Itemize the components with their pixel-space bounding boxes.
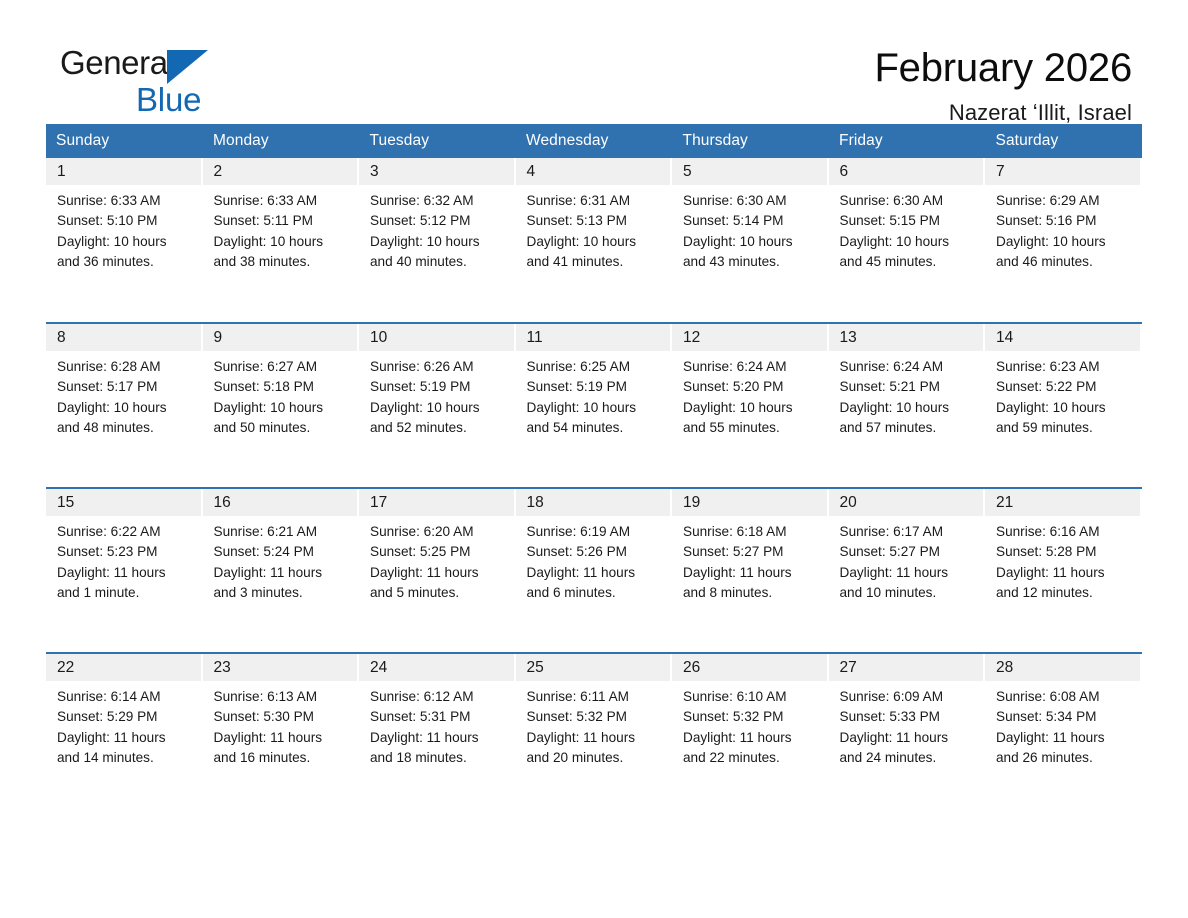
day-number: 9 [203, 324, 358, 351]
daylight-text-line1: Daylight: 10 hours [996, 398, 1134, 418]
day-number: 24 [359, 654, 514, 681]
sunrise-text: Sunrise: 6:23 AM [996, 357, 1134, 377]
daylight-text-line1: Daylight: 11 hours [57, 728, 195, 748]
sunset-text: Sunset: 5:32 PM [683, 707, 821, 727]
sunset-text: Sunset: 5:16 PM [996, 211, 1134, 231]
day-details: Sunrise: 6:21 AMSunset: 5:24 PMDaylight:… [203, 516, 360, 603]
sunrise-text: Sunrise: 6:27 AM [214, 357, 352, 377]
day-number: 15 [46, 489, 201, 516]
daylight-text-line2: and 18 minutes. [370, 748, 508, 768]
day-details: Sunrise: 6:32 AMSunset: 5:12 PMDaylight:… [359, 185, 516, 272]
day-number: 23 [203, 654, 358, 681]
sunrise-text: Sunrise: 6:14 AM [57, 687, 195, 707]
day-number: 20 [829, 489, 984, 516]
daylight-text-line2: and 55 minutes. [683, 418, 821, 438]
day-number: 21 [985, 489, 1140, 516]
daylight-text-line2: and 1 minute. [57, 583, 195, 603]
sunset-text: Sunset: 5:18 PM [214, 377, 352, 397]
page-title: February 2026 [874, 46, 1132, 91]
day-number: 25 [516, 654, 671, 681]
daylight-text-line2: and 8 minutes. [683, 583, 821, 603]
day-cell[interactable]: 6Sunrise: 6:30 AMSunset: 5:15 PMDaylight… [829, 158, 986, 323]
day-number: 10 [359, 324, 514, 351]
day-details: Sunrise: 6:17 AMSunset: 5:27 PMDaylight:… [829, 516, 986, 603]
sunrise-text: Sunrise: 6:20 AM [370, 522, 508, 542]
daylight-text-line1: Daylight: 11 hours [996, 563, 1134, 583]
sunrise-text: Sunrise: 6:16 AM [996, 522, 1134, 542]
day-number: 1 [46, 158, 201, 185]
sunset-text: Sunset: 5:31 PM [370, 707, 508, 727]
day-details: Sunrise: 6:22 AMSunset: 5:23 PMDaylight:… [46, 516, 203, 603]
daylight-text-line1: Daylight: 11 hours [57, 563, 195, 583]
day-cell[interactable]: 5Sunrise: 6:30 AMSunset: 5:14 PMDaylight… [672, 158, 829, 323]
daylight-text-line2: and 50 minutes. [214, 418, 352, 438]
day-cell[interactable]: 11Sunrise: 6:25 AMSunset: 5:19 PMDayligh… [516, 323, 673, 488]
day-details: Sunrise: 6:30 AMSunset: 5:15 PMDaylight:… [829, 185, 986, 272]
daylight-text-line1: Daylight: 10 hours [683, 398, 821, 418]
sunset-text: Sunset: 5:23 PM [57, 542, 195, 562]
sunrise-text: Sunrise: 6:08 AM [996, 687, 1134, 707]
day-cell[interactable]: 3Sunrise: 6:32 AMSunset: 5:12 PMDaylight… [359, 158, 516, 323]
sunset-text: Sunset: 5:26 PM [527, 542, 665, 562]
day-details: Sunrise: 6:14 AMSunset: 5:29 PMDaylight:… [46, 681, 203, 768]
daylight-text-line1: Daylight: 11 hours [527, 563, 665, 583]
daylight-text-line2: and 20 minutes. [527, 748, 665, 768]
sunrise-text: Sunrise: 6:25 AM [527, 357, 665, 377]
daylight-text-line2: and 38 minutes. [214, 252, 352, 272]
sunrise-text: Sunrise: 6:33 AM [57, 191, 195, 211]
daylight-text-line2: and 40 minutes. [370, 252, 508, 272]
day-number: 16 [203, 489, 358, 516]
day-number: 27 [829, 654, 984, 681]
sunrise-text: Sunrise: 6:19 AM [527, 522, 665, 542]
week-row: 8Sunrise: 6:28 AMSunset: 5:17 PMDaylight… [46, 323, 1142, 488]
sunrise-text: Sunrise: 6:09 AM [840, 687, 978, 707]
daylight-text-line2: and 3 minutes. [214, 583, 352, 603]
sunrise-text: Sunrise: 6:24 AM [840, 357, 978, 377]
week-row: 15Sunrise: 6:22 AMSunset: 5:23 PMDayligh… [46, 488, 1142, 653]
day-cell[interactable]: 10Sunrise: 6:26 AMSunset: 5:19 PMDayligh… [359, 323, 516, 488]
day-cell[interactable]: 18Sunrise: 6:19 AMSunset: 5:26 PMDayligh… [516, 488, 673, 653]
day-number: 4 [516, 158, 671, 185]
daylight-text-line1: Daylight: 10 hours [214, 232, 352, 252]
sunset-text: Sunset: 5:21 PM [840, 377, 978, 397]
page-subtitle: Nazerat ʻIllit, Israel [874, 100, 1132, 126]
day-details: Sunrise: 6:33 AMSunset: 5:10 PMDaylight:… [46, 185, 203, 272]
daylight-text-line2: and 14 minutes. [57, 748, 195, 768]
day-cell[interactable]: 19Sunrise: 6:18 AMSunset: 5:27 PMDayligh… [672, 488, 829, 653]
sunset-text: Sunset: 5:24 PM [214, 542, 352, 562]
daylight-text-line2: and 43 minutes. [683, 252, 821, 272]
day-cell[interactable]: 9Sunrise: 6:27 AMSunset: 5:18 PMDaylight… [203, 323, 360, 488]
day-cell[interactable]: 13Sunrise: 6:24 AMSunset: 5:21 PMDayligh… [829, 323, 986, 488]
daylight-text-line2: and 45 minutes. [840, 252, 978, 272]
day-details: Sunrise: 6:27 AMSunset: 5:18 PMDaylight:… [203, 351, 360, 438]
sunset-text: Sunset: 5:14 PM [683, 211, 821, 231]
weekday-header-wednesday: Wednesday [516, 124, 673, 158]
daylight-text-line1: Daylight: 10 hours [214, 398, 352, 418]
day-number: 14 [985, 324, 1140, 351]
day-cell[interactable]: 23Sunrise: 6:13 AMSunset: 5:30 PMDayligh… [203, 653, 360, 818]
daylight-text-line2: and 46 minutes. [996, 252, 1134, 272]
day-number: 5 [672, 158, 827, 185]
weekday-header-row: Sunday Monday Tuesday Wednesday Thursday… [46, 124, 1142, 158]
daylight-text-line1: Daylight: 11 hours [214, 728, 352, 748]
day-number: 13 [829, 324, 984, 351]
sunrise-text: Sunrise: 6:18 AM [683, 522, 821, 542]
daylight-text-line1: Daylight: 10 hours [57, 398, 195, 418]
daylight-text-line1: Daylight: 11 hours [370, 728, 508, 748]
logo-row-top: General [60, 46, 360, 86]
daylight-text-line2: and 16 minutes. [214, 748, 352, 768]
weekday-header-thursday: Thursday [672, 124, 829, 158]
day-cell[interactable]: 8Sunrise: 6:28 AMSunset: 5:17 PMDaylight… [46, 323, 203, 488]
day-details: Sunrise: 6:30 AMSunset: 5:14 PMDaylight:… [672, 185, 829, 272]
daylight-text-line2: and 5 minutes. [370, 583, 508, 603]
day-details: Sunrise: 6:29 AMSunset: 5:16 PMDaylight:… [985, 185, 1142, 272]
sunrise-text: Sunrise: 6:10 AM [683, 687, 821, 707]
day-number: 26 [672, 654, 827, 681]
masthead: General Blue February 2026 Nazerat ʻIlli… [46, 0, 1142, 112]
daylight-text-line1: Daylight: 10 hours [840, 232, 978, 252]
daylight-text-line1: Daylight: 10 hours [527, 232, 665, 252]
sunrise-text: Sunrise: 6:21 AM [214, 522, 352, 542]
daylight-text-line2: and 41 minutes. [527, 252, 665, 272]
sunset-text: Sunset: 5:19 PM [370, 377, 508, 397]
sunrise-text: Sunrise: 6:28 AM [57, 357, 195, 377]
sunrise-text: Sunrise: 6:32 AM [370, 191, 508, 211]
day-cell[interactable]: 14Sunrise: 6:23 AMSunset: 5:22 PMDayligh… [985, 323, 1142, 488]
sunrise-sunset-calendar: Sunday Monday Tuesday Wednesday Thursday… [46, 124, 1142, 818]
daylight-text-line2: and 54 minutes. [527, 418, 665, 438]
daylight-text-line1: Daylight: 10 hours [996, 232, 1134, 252]
sunrise-text: Sunrise: 6:13 AM [214, 687, 352, 707]
day-details: Sunrise: 6:13 AMSunset: 5:30 PMDaylight:… [203, 681, 360, 768]
day-number: 19 [672, 489, 827, 516]
day-details: Sunrise: 6:31 AMSunset: 5:13 PMDaylight:… [516, 185, 673, 272]
day-number: 17 [359, 489, 514, 516]
day-number: 7 [985, 158, 1140, 185]
day-details: Sunrise: 6:24 AMSunset: 5:21 PMDaylight:… [829, 351, 986, 438]
day-details: Sunrise: 6:26 AMSunset: 5:19 PMDaylight:… [359, 351, 516, 438]
daylight-text-line1: Daylight: 10 hours [57, 232, 195, 252]
daylight-text-line1: Daylight: 11 hours [840, 563, 978, 583]
daylight-text-line2: and 52 minutes. [370, 418, 508, 438]
sunset-text: Sunset: 5:11 PM [214, 211, 352, 231]
daylight-text-line2: and 10 minutes. [840, 583, 978, 603]
sunrise-text: Sunrise: 6:26 AM [370, 357, 508, 377]
calendar-page: General Blue February 2026 Nazerat ʻIlli… [0, 0, 1188, 918]
day-cell[interactable]: 1Sunrise: 6:33 AMSunset: 5:10 PMDaylight… [46, 158, 203, 323]
day-details: Sunrise: 6:19 AMSunset: 5:26 PMDaylight:… [516, 516, 673, 603]
day-details: Sunrise: 6:11 AMSunset: 5:32 PMDaylight:… [516, 681, 673, 768]
sunrise-text: Sunrise: 6:11 AM [527, 687, 665, 707]
sunset-text: Sunset: 5:32 PM [527, 707, 665, 727]
day-number: 11 [516, 324, 671, 351]
day-cell[interactable]: 16Sunrise: 6:21 AMSunset: 5:24 PMDayligh… [203, 488, 360, 653]
sunset-text: Sunset: 5:34 PM [996, 707, 1134, 727]
sunrise-text: Sunrise: 6:12 AM [370, 687, 508, 707]
sunrise-text: Sunrise: 6:31 AM [527, 191, 665, 211]
day-number: 8 [46, 324, 201, 351]
sunset-text: Sunset: 5:17 PM [57, 377, 195, 397]
daylight-text-line1: Daylight: 11 hours [683, 563, 821, 583]
sunset-text: Sunset: 5:27 PM [840, 542, 978, 562]
day-cell[interactable]: 20Sunrise: 6:17 AMSunset: 5:27 PMDayligh… [829, 488, 986, 653]
sunset-text: Sunset: 5:25 PM [370, 542, 508, 562]
day-details: Sunrise: 6:24 AMSunset: 5:20 PMDaylight:… [672, 351, 829, 438]
sunset-text: Sunset: 5:28 PM [996, 542, 1134, 562]
day-cell[interactable]: 12Sunrise: 6:24 AMSunset: 5:20 PMDayligh… [672, 323, 829, 488]
sunrise-text: Sunrise: 6:24 AM [683, 357, 821, 377]
day-number: 2 [203, 158, 358, 185]
daylight-text-line2: and 36 minutes. [57, 252, 195, 272]
day-number: 6 [829, 158, 984, 185]
daylight-text-line2: and 59 minutes. [996, 418, 1134, 438]
weekday-header-monday: Monday [203, 124, 360, 158]
daylight-text-line1: Daylight: 11 hours [683, 728, 821, 748]
day-cell[interactable]: 25Sunrise: 6:11 AMSunset: 5:32 PMDayligh… [516, 653, 673, 818]
day-details: Sunrise: 6:25 AMSunset: 5:19 PMDaylight:… [516, 351, 673, 438]
day-cell[interactable]: 22Sunrise: 6:14 AMSunset: 5:29 PMDayligh… [46, 653, 203, 818]
day-details: Sunrise: 6:16 AMSunset: 5:28 PMDaylight:… [985, 516, 1142, 603]
day-cell[interactable]: 21Sunrise: 6:16 AMSunset: 5:28 PMDayligh… [985, 488, 1142, 653]
sunrise-text: Sunrise: 6:29 AM [996, 191, 1134, 211]
weekday-header-friday: Friday [829, 124, 986, 158]
sunset-text: Sunset: 5:10 PM [57, 211, 195, 231]
daylight-text-line1: Daylight: 11 hours [527, 728, 665, 748]
sunset-text: Sunset: 5:22 PM [996, 377, 1134, 397]
daylight-text-line1: Daylight: 11 hours [370, 563, 508, 583]
daylight-text-line1: Daylight: 10 hours [840, 398, 978, 418]
title-block: February 2026 Nazerat ʻIllit, Israel [874, 46, 1132, 126]
day-details: Sunrise: 6:09 AMSunset: 5:33 PMDaylight:… [829, 681, 986, 768]
sunrise-text: Sunrise: 6:22 AM [57, 522, 195, 542]
weekday-header-tuesday: Tuesday [359, 124, 516, 158]
day-number: 22 [46, 654, 201, 681]
daylight-text-line2: and 22 minutes. [683, 748, 821, 768]
daylight-text-line1: Daylight: 11 hours [840, 728, 978, 748]
daylight-text-line1: Daylight: 11 hours [996, 728, 1134, 748]
day-cell[interactable]: 17Sunrise: 6:20 AMSunset: 5:25 PMDayligh… [359, 488, 516, 653]
daylight-text-line1: Daylight: 10 hours [683, 232, 821, 252]
week-row: 22Sunrise: 6:14 AMSunset: 5:29 PMDayligh… [46, 653, 1142, 818]
logo-text-blue: Blue [136, 83, 201, 116]
day-number: 28 [985, 654, 1140, 681]
day-number: 18 [516, 489, 671, 516]
sunrise-text: Sunrise: 6:33 AM [214, 191, 352, 211]
calendar-body: 1Sunrise: 6:33 AMSunset: 5:10 PMDaylight… [46, 158, 1142, 818]
day-details: Sunrise: 6:10 AMSunset: 5:32 PMDaylight:… [672, 681, 829, 768]
daylight-text-line2: and 24 minutes. [840, 748, 978, 768]
sunset-text: Sunset: 5:12 PM [370, 211, 508, 231]
sunrise-text: Sunrise: 6:17 AM [840, 522, 978, 542]
calendar-header: Sunday Monday Tuesday Wednesday Thursday… [46, 124, 1142, 158]
daylight-text-line2: and 12 minutes. [996, 583, 1134, 603]
day-cell[interactable]: 27Sunrise: 6:09 AMSunset: 5:33 PMDayligh… [829, 653, 986, 818]
sunset-text: Sunset: 5:27 PM [683, 542, 821, 562]
day-details: Sunrise: 6:28 AMSunset: 5:17 PMDaylight:… [46, 351, 203, 438]
daylight-text-line1: Daylight: 11 hours [214, 563, 352, 583]
week-row: 1Sunrise: 6:33 AMSunset: 5:10 PMDaylight… [46, 158, 1142, 323]
day-details: Sunrise: 6:18 AMSunset: 5:27 PMDaylight:… [672, 516, 829, 603]
daylight-text-line1: Daylight: 10 hours [370, 398, 508, 418]
day-number: 3 [359, 158, 514, 185]
daylight-text-line1: Daylight: 10 hours [527, 398, 665, 418]
sunset-text: Sunset: 5:30 PM [214, 707, 352, 727]
generalblue-logo[interactable]: General Blue [60, 46, 360, 120]
sunset-text: Sunset: 5:19 PM [527, 377, 665, 397]
daylight-text-line2: and 26 minutes. [996, 748, 1134, 768]
sunset-text: Sunset: 5:20 PM [683, 377, 821, 397]
day-details: Sunrise: 6:33 AMSunset: 5:11 PMDaylight:… [203, 185, 360, 272]
day-number: 12 [672, 324, 827, 351]
sunrise-text: Sunrise: 6:30 AM [683, 191, 821, 211]
day-cell[interactable]: 4Sunrise: 6:31 AMSunset: 5:13 PMDaylight… [516, 158, 673, 323]
day-cell[interactable]: 15Sunrise: 6:22 AMSunset: 5:23 PMDayligh… [46, 488, 203, 653]
weekday-header-sunday: Sunday [46, 124, 203, 158]
day-details: Sunrise: 6:12 AMSunset: 5:31 PMDaylight:… [359, 681, 516, 768]
weekday-header-saturday: Saturday [985, 124, 1142, 158]
daylight-text-line2: and 57 minutes. [840, 418, 978, 438]
day-cell[interactable]: 2Sunrise: 6:33 AMSunset: 5:11 PMDaylight… [203, 158, 360, 323]
sunset-text: Sunset: 5:29 PM [57, 707, 195, 727]
sunset-text: Sunset: 5:15 PM [840, 211, 978, 231]
sunset-text: Sunset: 5:13 PM [527, 211, 665, 231]
logo-triangle-icon [167, 50, 208, 84]
day-cell[interactable]: 24Sunrise: 6:12 AMSunset: 5:31 PMDayligh… [359, 653, 516, 818]
logo-text-general: General [60, 46, 175, 79]
day-details: Sunrise: 6:23 AMSunset: 5:22 PMDaylight:… [985, 351, 1142, 438]
day-cell[interactable]: 26Sunrise: 6:10 AMSunset: 5:32 PMDayligh… [672, 653, 829, 818]
day-details: Sunrise: 6:08 AMSunset: 5:34 PMDaylight:… [985, 681, 1142, 768]
daylight-text-line2: and 48 minutes. [57, 418, 195, 438]
daylight-text-line2: and 6 minutes. [527, 583, 665, 603]
sunrise-text: Sunrise: 6:30 AM [840, 191, 978, 211]
sunset-text: Sunset: 5:33 PM [840, 707, 978, 727]
day-cell[interactable]: 7Sunrise: 6:29 AMSunset: 5:16 PMDaylight… [985, 158, 1142, 323]
day-cell[interactable]: 28Sunrise: 6:08 AMSunset: 5:34 PMDayligh… [985, 653, 1142, 818]
day-details: Sunrise: 6:20 AMSunset: 5:25 PMDaylight:… [359, 516, 516, 603]
daylight-text-line1: Daylight: 10 hours [370, 232, 508, 252]
